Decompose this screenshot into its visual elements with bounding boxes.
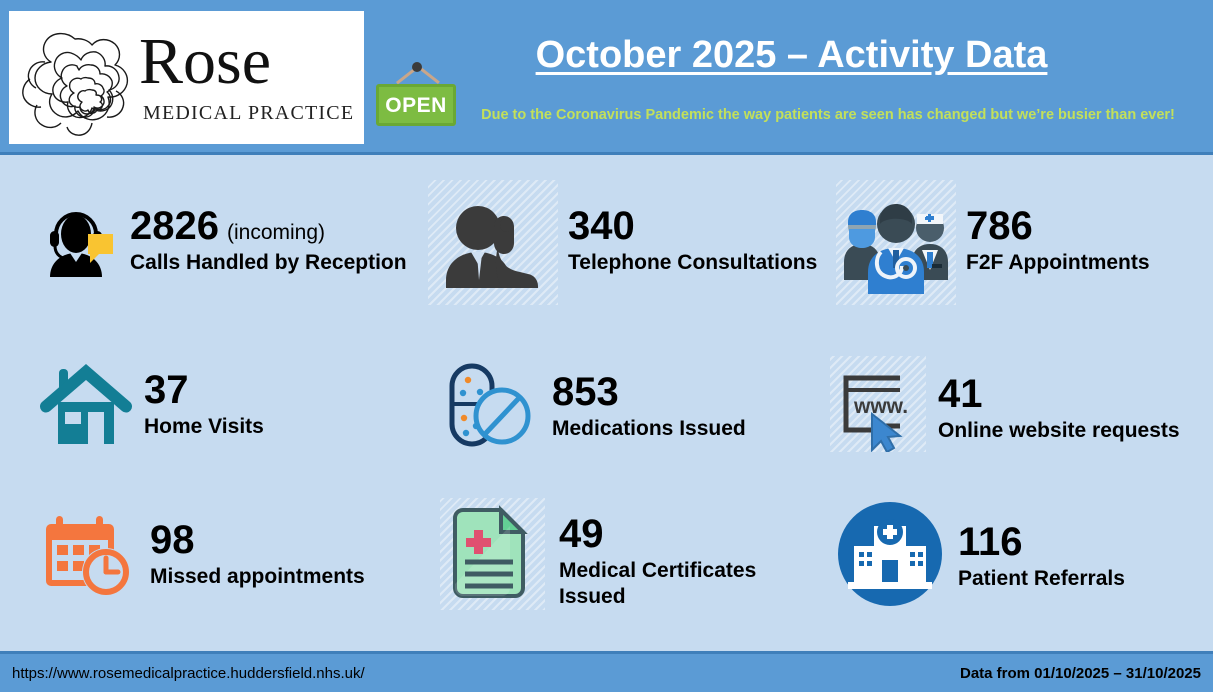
stat-card-telephone-consultations: 340 Telephone Consultations (428, 180, 817, 305)
page-footer: https://www.rosemedicalpractice.huddersf… (0, 651, 1213, 692)
stat-card-medical-certificates: 49 Medical Certificates Issued (440, 498, 774, 610)
stat-card-missed-appointments: 98 Missed appointments (38, 506, 365, 602)
stat-value: 37 (144, 368, 189, 412)
medical-document-icon (440, 498, 545, 610)
stat-card-medications-issued: 853 Medications Issued (440, 356, 746, 452)
stat-card-online-requests: www. 41 Online website requests (830, 356, 1180, 452)
open-sign-plaque: OPEN (376, 84, 456, 126)
medical-team-icon (836, 180, 956, 305)
calendar-clock-icon (38, 506, 138, 602)
svg-text:www.: www. (853, 395, 908, 418)
stat-label: Missed appointments (150, 564, 365, 590)
data-date-range: Data from 01/10/2025 – 31/10/2025 (960, 665, 1201, 682)
practice-website-url[interactable]: https://www.rosemedicalpractice.huddersf… (12, 665, 365, 682)
stat-label: Home Visits (144, 414, 264, 440)
stat-label: Patient Referrals (958, 566, 1125, 592)
page-subtitle: Due to the Coronavirus Pandemic the way … (468, 104, 1188, 126)
stat-card-patient-referrals: 116 Patient Referrals (836, 498, 1125, 610)
stat-label: Online website requests (938, 418, 1180, 444)
rose-flower-icon (15, 19, 135, 137)
logo-tagline: MEDICAL PRACTICE (139, 101, 354, 125)
logo-brand-text: Rose (139, 31, 354, 93)
practice-logo: Rose MEDICAL PRACTICE (9, 11, 364, 144)
stats-grid: 2826 (incoming) Calls Handled by Recepti… (0, 158, 1213, 650)
page-title: October 2025 – Activity Data (370, 32, 1213, 78)
pill-capsule-icon (440, 356, 540, 452)
stat-value: 786 (966, 204, 1033, 248)
stat-label: Medications Issued (552, 416, 746, 442)
stat-card-f2f-appointments: 786 F2F Appointments (836, 180, 1150, 305)
page-header: Rose MEDICAL PRACTICE OPEN October 2025 … (0, 0, 1213, 155)
stat-label: Calls Handled by Reception (130, 250, 407, 276)
stat-label: Medical Certificates Issued (559, 558, 774, 610)
stat-value: 340 (568, 204, 635, 248)
stat-label: F2F Appointments (966, 250, 1150, 276)
www-cursor-icon: www. (830, 356, 926, 452)
open-sign-label: OPEN (385, 95, 447, 116)
hospital-building-icon (836, 498, 944, 610)
stat-value: 49 (559, 512, 604, 556)
stat-value: 853 (552, 370, 619, 414)
stat-value: 98 (150, 518, 195, 562)
house-icon (38, 358, 134, 448)
stat-value: 2826 (130, 204, 219, 248)
headset-operator-icon (40, 200, 116, 280)
stat-card-calls-handled: 2826 (incoming) Calls Handled by Recepti… (40, 200, 407, 280)
stat-value: 116 (958, 520, 1023, 564)
stat-value: 41 (938, 372, 983, 416)
stat-label: Telephone Consultations (568, 250, 817, 276)
stat-qualifier: (incoming) (227, 221, 325, 245)
person-on-telephone-icon (428, 180, 558, 305)
stat-card-home-visits: 37 Home Visits (38, 358, 264, 448)
